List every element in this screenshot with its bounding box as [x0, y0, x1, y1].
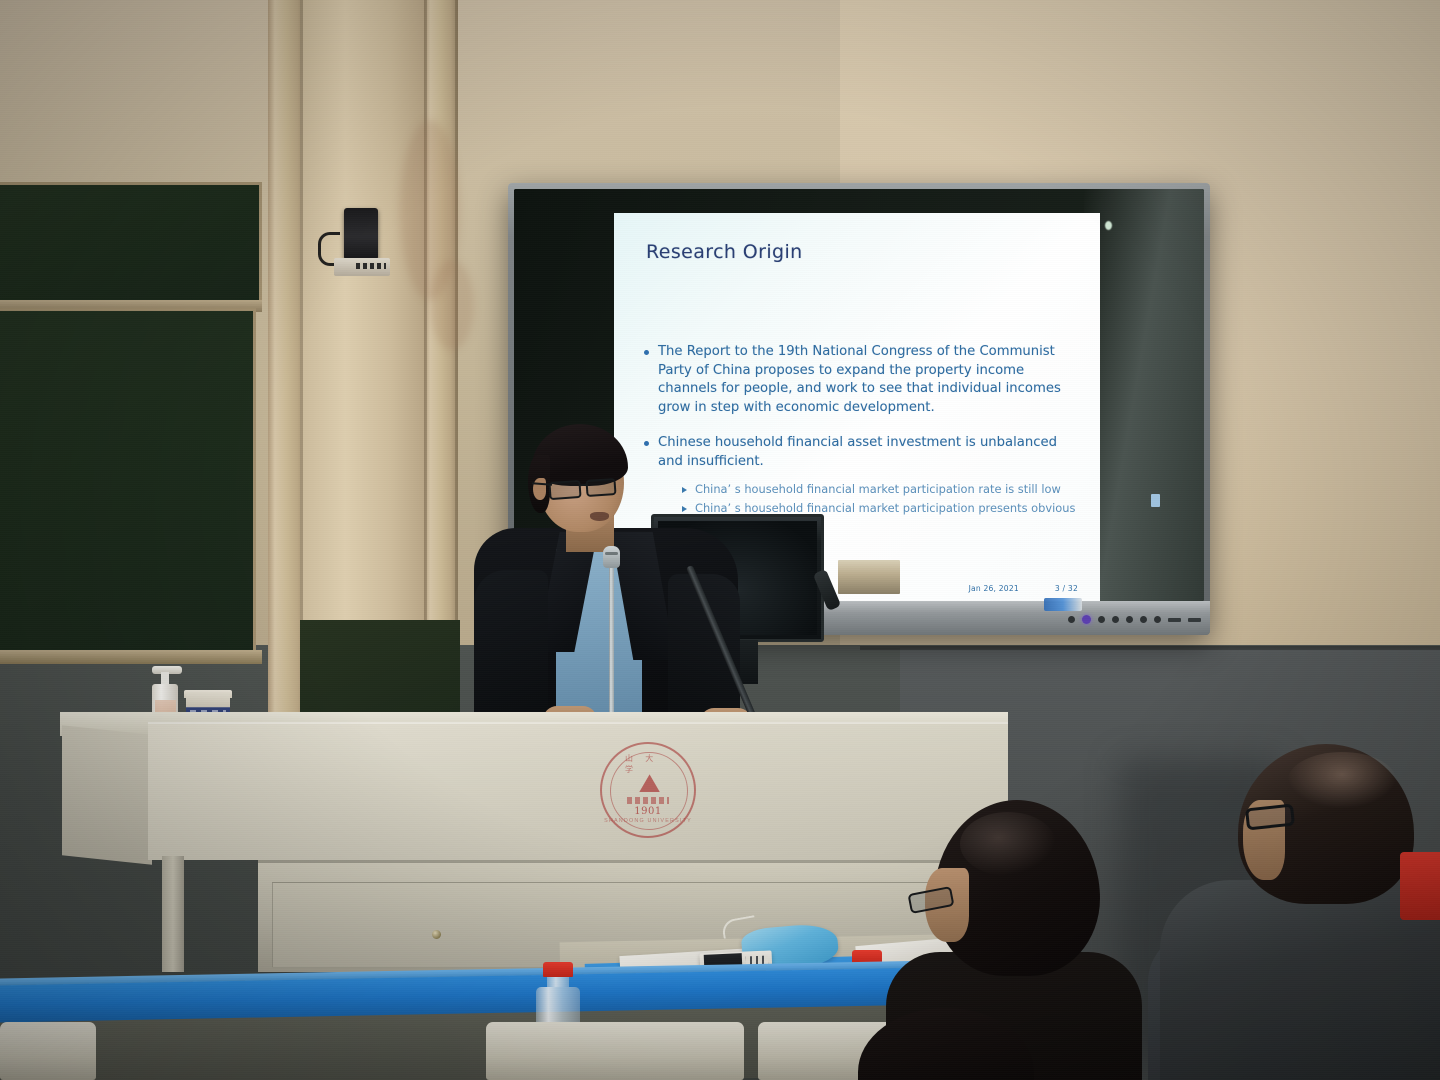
bottle-neck	[547, 977, 569, 987]
bezel-slider-2[interactable]	[1188, 618, 1201, 622]
bezel-slider-1[interactable]	[1168, 618, 1181, 622]
slide-title: Research Origin	[646, 241, 803, 263]
lecture-hall-photo: Research Origin The Report to the 19th N…	[0, 0, 1440, 1080]
bezel-button-1[interactable]	[1068, 616, 1075, 623]
waves-icon	[627, 797, 669, 804]
screen-glare	[1084, 189, 1204, 601]
power-button-icon[interactable]	[1082, 615, 1091, 624]
podium-base-edge	[258, 860, 1018, 863]
slide-bullet-2-text: Chinese household financial asset invest…	[658, 434, 1082, 471]
audience-front-hair-highlight	[960, 812, 1056, 876]
chair-backrest-center	[486, 1022, 744, 1080]
bezel-button-3[interactable]	[1112, 616, 1119, 623]
triangle-bullet-icon	[682, 506, 687, 512]
audience-right-body	[1160, 880, 1440, 1080]
podium-front-panel	[148, 722, 1008, 860]
slide-bullet-1: The Report to the 19th National Congress…	[644, 343, 1082, 418]
bezel-button-4[interactable]	[1126, 616, 1133, 623]
triangle-bullet-icon	[682, 487, 687, 493]
screen-blue-reflection	[1151, 494, 1160, 507]
slide-footer-date: Jan 26, 2021	[969, 584, 1019, 593]
presenter-arm-left	[474, 570, 548, 734]
slide-body: The Report to the 19th National Congress…	[644, 343, 1082, 534]
chair-backrest-left	[0, 1022, 96, 1080]
presenter-ear	[533, 478, 546, 500]
baseboard-divider	[860, 646, 1440, 650]
wall-speaker-icon	[344, 208, 378, 260]
bullet-dot-icon	[644, 350, 649, 355]
seal-year: 1901	[634, 806, 661, 817]
bezel-button-2[interactable]	[1098, 616, 1105, 623]
slide-sub-bullet-1: China’ s household financial market part…	[682, 481, 1082, 497]
bezel-button-5[interactable]	[1140, 616, 1147, 623]
university-seal: 山 大 学 ⛰ 1901 SHANDONG UNIVERSITY	[600, 742, 696, 838]
wall-speaker-leds	[356, 263, 386, 269]
slide-sub-bullet-1-text: China’ s household financial market part…	[695, 481, 1061, 497]
screen-reflection-dot	[1105, 221, 1112, 230]
chalkboard-lower	[0, 308, 256, 658]
seal-english-text: SHANDONG UNIVERSITY	[604, 818, 692, 824]
bezel-button-6[interactable]	[1154, 616, 1161, 623]
podium-side-panel	[62, 725, 152, 864]
bottle-cap-icon	[543, 962, 573, 977]
audience-right-hair-highlight	[1288, 752, 1396, 808]
wood-stain-b	[430, 260, 474, 350]
chalkboard-upper	[0, 182, 262, 310]
chalkboard-rail-lower	[0, 650, 262, 664]
smartboard-control-buttons[interactable]	[1068, 615, 1201, 624]
microphone-head-icon	[603, 546, 620, 568]
slide-bullet-2: Chinese household financial asset invest…	[644, 434, 1082, 471]
stacked-books	[838, 560, 900, 594]
red-bag-object	[1400, 852, 1440, 920]
slide-page-number: 3 / 32	[1055, 584, 1078, 593]
smartboard-brand-logo	[1044, 598, 1082, 611]
glasses-lens-right	[585, 478, 616, 497]
mountain-icon: ⛰	[639, 770, 658, 796]
gooseneck-microphone-stem	[609, 560, 614, 728]
glasses-lens-left	[548, 480, 581, 500]
podium-leg	[162, 856, 184, 972]
bullet-dot-icon	[644, 441, 649, 446]
presenter-mouth	[590, 512, 609, 521]
drawer-lock-icon[interactable]	[432, 930, 441, 939]
slide-bullet-1-text: The Report to the 19th National Congress…	[658, 343, 1082, 418]
microphone-ring	[605, 552, 618, 555]
